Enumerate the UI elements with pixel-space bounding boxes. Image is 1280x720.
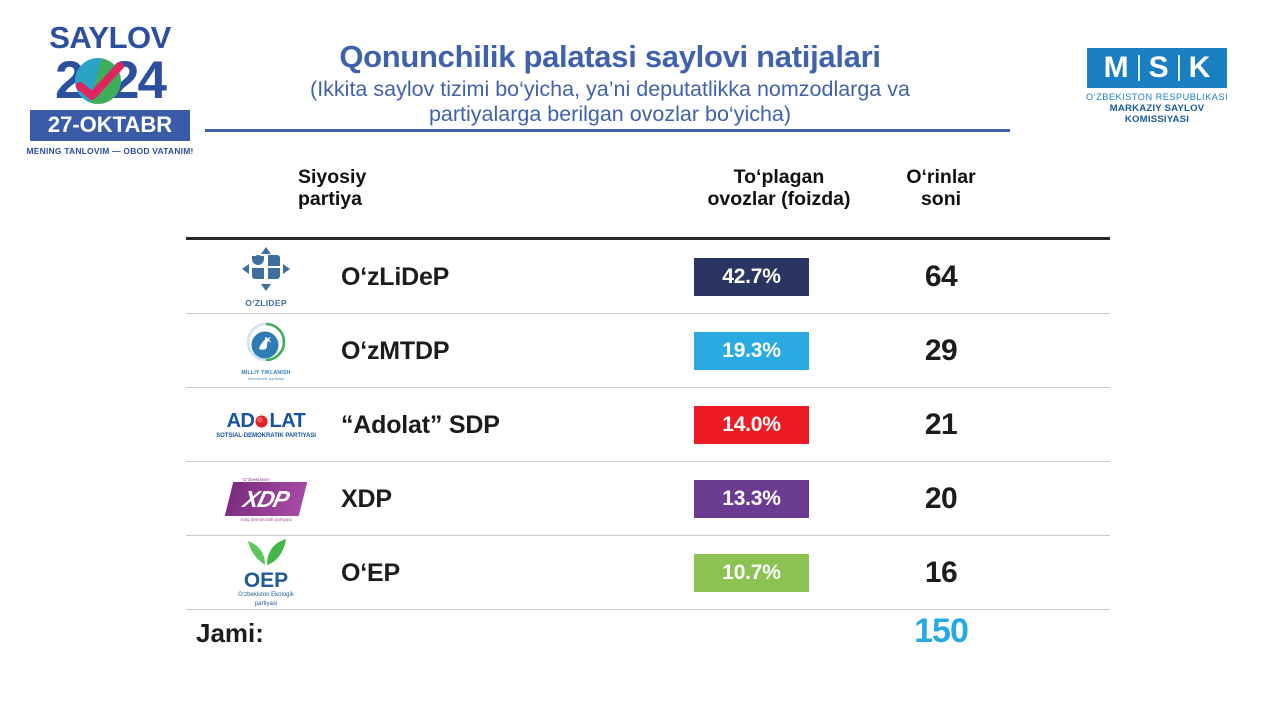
votes-percent-badge: 42.7% <box>694 258 809 296</box>
column-header-party-line1: Siyosiy <box>298 167 448 189</box>
ozlidep-logo-caption: O‘ZLIDEP <box>241 298 291 308</box>
xdp-logo: O‘zbekiston XDP Xalq demokratik partiyas… <box>229 477 303 522</box>
table-row: ADLAT SOTSIAL-DEMOKRATIK PARTIYASI “Adol… <box>186 388 1110 462</box>
msk-separator-2 <box>1178 55 1180 81</box>
column-header-votes-line1: To‘plagan <box>684 167 874 189</box>
votes-percent-badge: 14.0% <box>694 406 809 444</box>
title-block: Qonunchilik palatasi saylovi natijalari … <box>190 40 1030 128</box>
xdp-parallelogram: XDP <box>225 482 307 516</box>
total-row: Jami: 150 <box>186 610 1110 664</box>
ozlidep-emblem-icon <box>241 246 291 292</box>
seats-count: 21 <box>876 388 1006 462</box>
page-header: SAYLOV 2024 27-OKTABR MENING TANLOVIM — … <box>0 0 1280 150</box>
xdp-logo-caption-top: O‘zbekiston <box>229 477 303 482</box>
msk-separator-1 <box>1138 55 1140 81</box>
saylov-2024-logo: SAYLOV 2024 27-OKTABR MENING TANLOVIM — … <box>20 22 200 156</box>
party-logo-cell: OEP O‘zbekiston Ekologik partiyasi <box>206 536 326 610</box>
msk-subtitle-line2: MARKAZIY SAYLOV KOMISSIYASI <box>1082 103 1232 125</box>
votes-percent-cell: 14.0% <box>694 388 884 462</box>
ozmtdp-logo: MILLIY TIKLANISH demokratik partiyasi <box>241 321 290 381</box>
page-subtitle-line1: (Ikkita saylov tizimi bo‘yicha, ya’ni de… <box>190 77 1030 102</box>
checkmark-icon <box>70 62 128 102</box>
column-header-seats-line1: O‘rinlar <box>876 167 1006 189</box>
oep-wordmark: OEP <box>238 571 294 591</box>
page-title: Qonunchilik palatasi saylovi natijalari <box>190 40 1030 74</box>
msk-letter-m: M <box>1095 53 1138 83</box>
xdp-logo-caption2: Xalq demokratik partiyasi <box>229 517 303 522</box>
msk-logo: M S K O‘ZBEKISTON RESPUBLIKASI MARKAZIY … <box>1082 48 1232 125</box>
column-header-party: Siyosiy partiya <box>298 167 448 211</box>
seats-count: 29 <box>876 314 1006 388</box>
msk-letter-s: S <box>1140 53 1178 83</box>
votes-percent-badge: 13.3% <box>694 480 809 518</box>
table-row: OEP O‘zbekiston Ekologik partiyasi O‘EP … <box>186 536 1110 610</box>
total-label: Jami: <box>196 618 264 649</box>
adolat-logo-caption: SOTSIAL-DEMOKRATIK PARTIYASI <box>216 432 316 439</box>
party-name: O‘EP <box>341 536 400 610</box>
oep-logo: OEP O‘zbekiston Ekologik partiyasi <box>238 538 294 607</box>
party-name: “Adolat” SDP <box>341 388 500 462</box>
rose-icon <box>254 414 269 429</box>
leaves-icon <box>243 538 289 566</box>
party-logo-cell: MILLIY TIKLANISH demokratik partiyasi <box>206 314 326 388</box>
votes-percent-badge: 19.3% <box>694 332 809 370</box>
title-divider <box>205 129 1010 132</box>
table-row: O‘zbekiston XDP Xalq demokratik partiyas… <box>186 462 1110 536</box>
column-header-votes: To‘plagan ovozlar (foizda) <box>684 167 874 211</box>
seats-count: 16 <box>876 536 1006 610</box>
msk-subtitle-line1: O‘ZBEKISTON RESPUBLIKASI <box>1082 92 1232 102</box>
column-header-seats: O‘rinlar soni <box>876 167 1006 211</box>
election-date-badge: 27-OKTABR <box>30 110 190 141</box>
party-logo-cell: ADLAT SOTSIAL-DEMOKRATIK PARTIYASI <box>206 388 326 462</box>
column-header-votes-line2: ovozlar (foizda) <box>684 189 874 211</box>
table-header-row: Siyosiy partiya To‘plagan ovozlar (foizd… <box>186 160 1110 237</box>
ozmtdp-emblem-icon <box>243 321 289 365</box>
saylov-year-row: 2024 <box>20 54 200 108</box>
table-row: O‘ZLIDEP O‘zLiDeP 42.7% 64 <box>186 240 1110 314</box>
party-logo-cell: O‘ZLIDEP <box>206 240 326 314</box>
xdp-wordmark: XDP <box>225 482 307 516</box>
table-row: MILLIY TIKLANISH demokratik partiyasi O‘… <box>186 314 1110 388</box>
seats-count: 20 <box>876 462 1006 536</box>
seats-count: 64 <box>876 240 1006 314</box>
ozmtdp-logo-caption2: demokratik partiyasi <box>241 376 290 381</box>
votes-percent-cell: 13.3% <box>694 462 884 536</box>
ozlidep-logo: O‘ZLIDEP <box>241 246 291 308</box>
results-table: Siyosiy partiya To‘plagan ovozlar (foizd… <box>186 160 1110 664</box>
oep-logo-caption2: O‘zbekiston Ekologik <box>238 592 294 599</box>
saylov-wordmark: SAYLOV <box>20 22 200 53</box>
votes-percent-cell: 19.3% <box>694 314 884 388</box>
votes-percent-cell: 42.7% <box>694 240 884 314</box>
msk-letters-box: M S K <box>1087 48 1227 88</box>
adolat-logo: ADLAT SOTSIAL-DEMOKRATIK PARTIYASI <box>216 411 316 439</box>
party-name: XDP <box>341 462 392 536</box>
saylov-tagline: MENING TANLOVIM — OBOD VATANIM! <box>20 146 200 156</box>
party-logo-cell: O‘zbekiston XDP Xalq demokratik partiyas… <box>206 462 326 536</box>
page-subtitle: (Ikkita saylov tizimi bo‘yicha, ya’ni de… <box>190 77 1030 128</box>
column-header-seats-line2: soni <box>876 189 1006 211</box>
votes-percent-cell: 10.7% <box>694 536 884 610</box>
party-name: O‘zLiDeP <box>341 240 449 314</box>
oep-logo-caption3: partiyasi <box>238 601 294 608</box>
column-header-party-line2: partiya <box>298 189 448 211</box>
msk-letter-k: K <box>1180 53 1220 83</box>
adolat-wordmark: ADLAT <box>216 411 316 431</box>
party-name: O‘zMTDP <box>341 314 449 388</box>
page-subtitle-line2: partiyalarga berilgan ovozlar bo‘yicha) <box>190 102 1030 127</box>
total-seats-value: 150 <box>876 612 1006 651</box>
votes-percent-badge: 10.7% <box>694 554 809 592</box>
